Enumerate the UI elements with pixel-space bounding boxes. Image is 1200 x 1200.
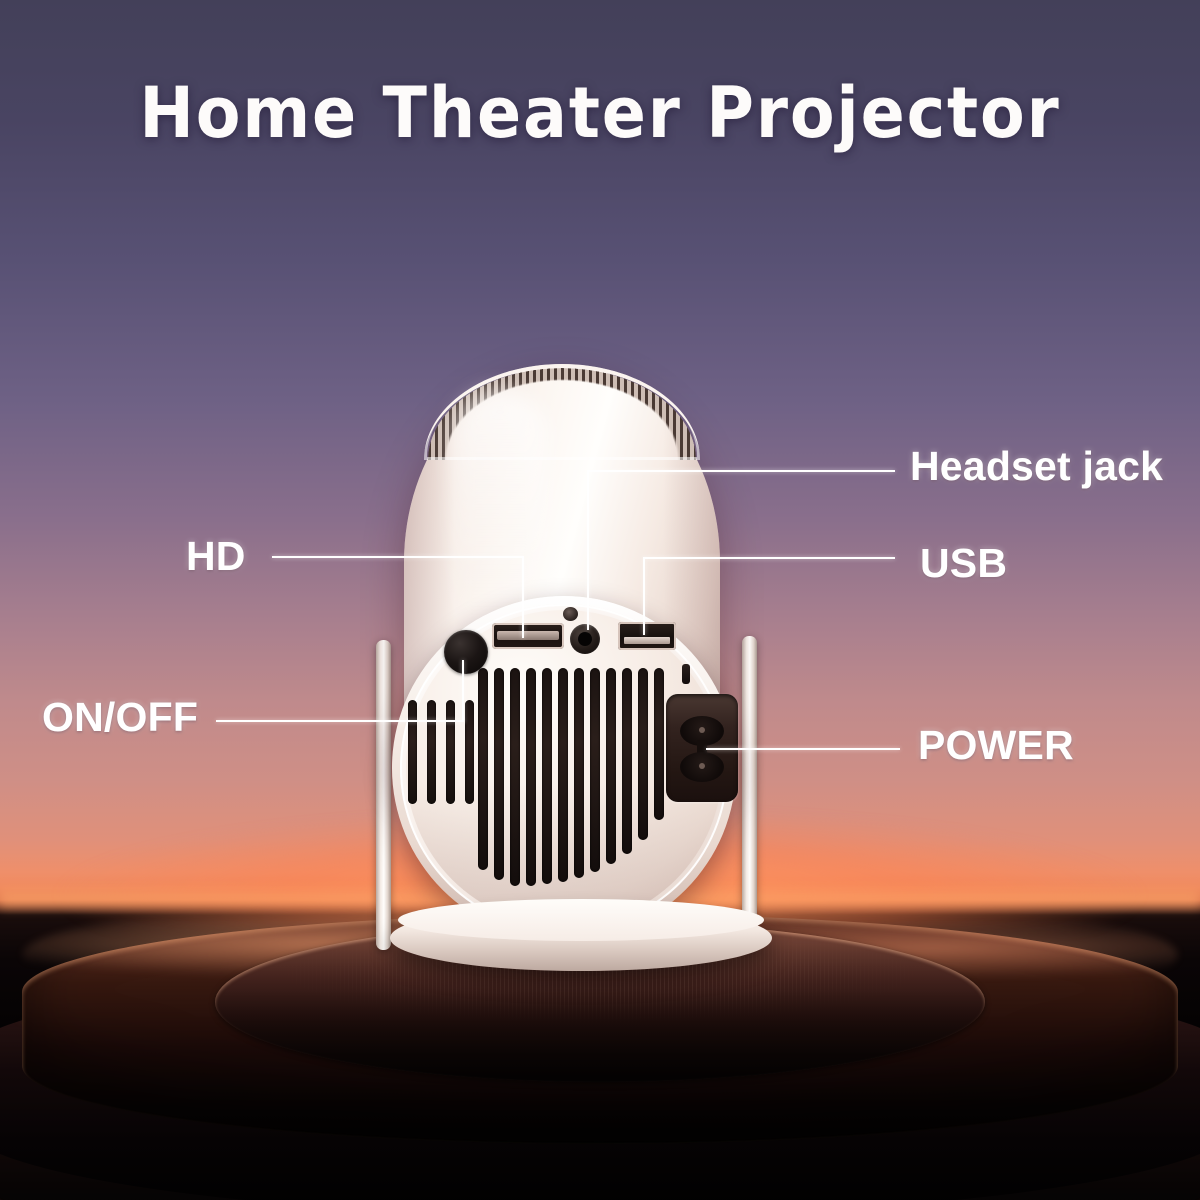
vent-slot [590,668,600,872]
dc-connector-pin [699,727,705,733]
vent-slot [622,668,632,854]
projector-device [0,0,1200,1200]
usb-leader-horizontal [643,557,895,559]
hdmi-port-slot [497,631,559,640]
hd-leader-vertical [522,556,524,638]
headset-jack-hole [578,632,592,646]
callout-label-hd: HD [186,533,246,580]
vent-slot [606,668,616,864]
page-title: Home Theater Projector [42,74,1158,152]
headset-jack-leader-horizontal [587,470,895,472]
callout-label-headset-jack: Headset jack [910,443,1163,490]
vent-group-left [408,700,478,804]
vent-slot [427,700,436,804]
vent-slot [478,668,488,870]
usb-port[interactable] [618,622,676,650]
vent-slot [465,700,474,804]
vent-slot [494,668,504,880]
product-infographic: Home Theater Projector Headset jack USB … [0,0,1200,1200]
led-indicator-slot [682,664,690,684]
callout-label-onoff: ON/OFF [42,694,198,741]
vent-slot [510,668,520,886]
vent-slot [638,668,648,840]
callout-label-power: POWER [918,722,1074,769]
power-leader-horizontal [706,748,900,750]
stand-post-left [376,640,391,950]
panel-screw [563,607,578,621]
onoff-leader-horizontal [216,720,464,722]
vent-group-center [478,668,668,886]
vent-slot [526,668,536,886]
stand-foot-top [398,899,764,941]
vent-slot [446,700,455,804]
vent-slot [654,668,664,820]
hd-leader-horizontal [272,556,524,558]
stand-post-right [742,636,757,948]
vent-slot [542,668,552,884]
vent-slot [574,668,584,878]
onoff-leader-vertical [462,660,464,722]
usb-port-tongue [624,637,670,644]
headset-jack-leader-vertical [587,470,589,630]
callout-label-usb: USB [920,540,1007,587]
vent-slot [408,700,417,804]
usb-leader-vertical [643,557,645,635]
dc-connector-pin [699,763,705,769]
vent-slot [558,668,568,882]
